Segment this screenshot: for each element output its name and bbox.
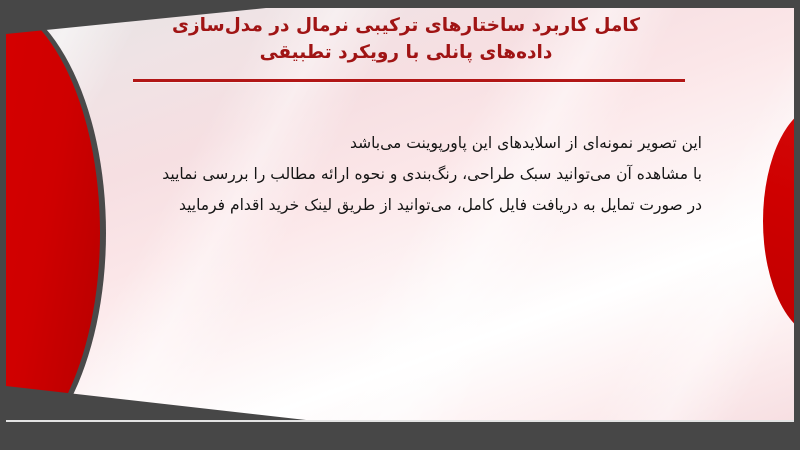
- presentation-slide: کامل کاربرد ساختارهای ترکیبی نرمال در مد…: [0, 0, 800, 450]
- left-red-lens-outline: [6, 8, 106, 420]
- left-red-lens-fill: [6, 8, 100, 420]
- body-line-1: این تصویر نمونه‌ای از اسلایدهای این پاور…: [106, 128, 702, 159]
- body-line-2: با مشاهده آن می‌توانید سبک طراحی، رنگ‌بن…: [106, 159, 702, 190]
- left-red-lens-shape: [6, 8, 106, 420]
- bottom-left-diagonal-cut: [6, 386, 306, 420]
- slide-content-area: کامل کاربرد ساختارهای ترکیبی نرمال در مد…: [6, 8, 794, 420]
- right-red-ellipse-shape: [763, 104, 794, 338]
- slide-title-line-2: داده‌های پانلی با رویکرد تطبیقی: [66, 39, 746, 66]
- slide-title-line-1: کامل کاربرد ساختارهای ترکیبی نرمال در مد…: [66, 12, 746, 39]
- slide-title: کامل کاربرد ساختارهای ترکیبی نرمال در مد…: [66, 12, 746, 66]
- body-line-3: در صورت تمایل به دریافت فایل کامل، می‌تو…: [106, 190, 702, 221]
- title-underline-rule: [133, 79, 685, 82]
- slide-body-text: این تصویر نمونه‌ای از اسلایدهای این پاور…: [106, 128, 702, 221]
- stage-bottom-highlight: [6, 420, 794, 422]
